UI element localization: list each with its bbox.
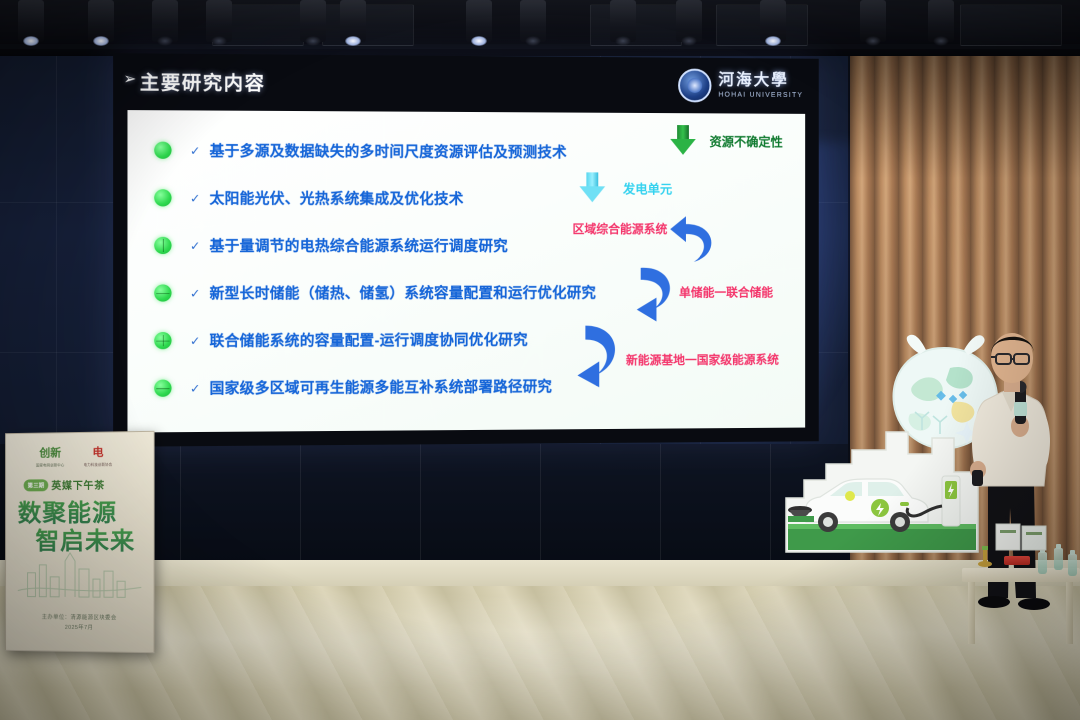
list-item: ✓ 新型长时储能（储热、储氢）系统容量配置和运行优化研究: [154, 269, 587, 317]
banner-series-label: 第三期 英媒下午茶: [24, 477, 105, 493]
bullet-text: 联合储能系统的容量配置-运行调度协同优化研究: [209, 329, 527, 351]
org-logo-2-sub: 电力科技创新协会: [81, 463, 115, 468]
banner-footer-organizer: 主办单位：清源能源区块委会: [6, 612, 153, 622]
ceiling-box: [590, 4, 682, 46]
bullet-list: ✓ 基于多源及数据缺失的多时间尺度资源评估及预测技术 ✓ 太阳能光伏、光热系统集…: [154, 126, 587, 412]
check-icon: ✓: [190, 143, 200, 157]
ceiling-truss: [0, 0, 1080, 56]
list-item: ✓ 基于量调节的电热综合能源系统运行调度研究: [154, 222, 587, 270]
banner-org-logos: 创新 国家电网创新中心 电 电力科技创新协会: [33, 445, 115, 468]
org-logo-1: 创新 国家电网创新中心: [33, 446, 67, 468]
list-item: ✓ 国家级多区域可再生能源多能互补系统部署路径研究: [154, 362, 587, 412]
bullet-dot-icon: [154, 189, 171, 206]
stage-light-icon: [928, 0, 954, 42]
banner-badge: 第三期: [24, 479, 49, 491]
annotation-new-energy-base-to-national-system: 新能源基地一国家级能源系统: [626, 351, 779, 369]
bullet-text: 太阳能光伏、光热系统集成及优化技术: [209, 187, 463, 209]
red-box: [1004, 556, 1030, 565]
stage-light-icon: [152, 0, 178, 42]
list-item: ✓ 联合储能系统的容量配置-运行调度协同优化研究: [154, 316, 587, 365]
check-icon: ✓: [190, 191, 200, 205]
carpet-floor: [0, 586, 1080, 720]
bullet-dot-icon: [154, 237, 171, 254]
stage-light-icon: [760, 0, 786, 42]
slide-title: 主要研究内容: [140, 68, 266, 96]
org-logo-2-mark: 电: [81, 445, 115, 460]
side-table: [962, 552, 1080, 650]
presentation-clicker: [972, 470, 983, 486]
stage-light-icon: [300, 0, 326, 42]
stage-light-icon: [466, 0, 492, 42]
check-icon: ✓: [190, 333, 200, 347]
table-leg: [1066, 582, 1073, 644]
banner-series-title: 英媒下午茶: [51, 477, 105, 492]
bullet-dot-icon: [154, 380, 171, 397]
bullet-text: 基于量调节的电热综合能源系统运行调度研究: [209, 235, 508, 256]
org-logo-1-sub: 国家电网创新中心: [33, 463, 67, 468]
check-icon: ✓: [190, 381, 200, 395]
bullet-text: 新型长时储能（储热、储氢）系统容量配置和运行优化研究: [209, 282, 596, 304]
presenter-arm-right: [1034, 408, 1050, 469]
list-item: ✓ 基于多源及数据缺失的多时间尺度资源评估及预测技术: [154, 126, 587, 175]
banner-footer-date: 2025年7月: [6, 622, 153, 632]
university-logo: 河海大學 HOHAI UNIVERSITY: [678, 66, 803, 106]
org-logo-2: 电 电力科技创新协会: [81, 445, 115, 467]
stage-light-icon: [340, 0, 366, 42]
annotation-regional-energy-system: 区域综合能源系统: [573, 220, 668, 237]
stage-light-icon: [88, 0, 114, 42]
water-bottle: [1054, 548, 1063, 570]
slide-header: ➢ 主要研究内容 河海大學 HOHAI UNIVERSITY: [113, 53, 819, 114]
org-logo-1-mark: 创新: [33, 446, 67, 461]
water-bottle: [1038, 552, 1047, 574]
university-seal-icon: [678, 69, 711, 103]
bullet-dot-icon: [154, 284, 171, 301]
skyline-graphic: [18, 547, 142, 600]
bullet-dot-icon: [154, 142, 171, 159]
check-icon: ✓: [190, 286, 200, 300]
ceiling-box: [960, 4, 1062, 46]
down-arrow-cyan-icon: [579, 172, 605, 202]
stage-light-icon: [610, 0, 636, 42]
stage-light-icon: [860, 0, 886, 42]
table-leg: [968, 582, 975, 644]
green-lawn: [788, 528, 976, 550]
ceiling-box: [322, 4, 414, 46]
slide-body: ✓ 基于多源及数据缺失的多时间尺度资源评估及预测技术 ✓ 太阳能光伏、光热系统集…: [127, 110, 805, 432]
projection-screen: ➢ 主要研究内容 河海大學 HOHAI UNIVERSITY ✓ 基于多源及数据…: [113, 53, 819, 447]
check-icon: ✓: [190, 238, 200, 252]
name-card: [994, 522, 1050, 554]
presentation-photo-scene: ➢ 主要研究内容 河海大學 HOHAI UNIVERSITY ✓ 基于多源及数据…: [0, 0, 1080, 720]
stage-light-icon: [206, 0, 232, 42]
bullet-text: 基于多源及数据缺失的多时间尺度资源评估及预测技术: [209, 140, 566, 163]
stage-light-icon: [18, 0, 44, 42]
logo-english-name: HOHAI UNIVERSITY: [718, 92, 803, 99]
slide: ➢ 主要研究内容 河海大學 HOHAI UNIVERSITY ✓ 基于多源及数据…: [113, 53, 819, 447]
annotation-resource-uncertainty: 资源不确定性: [709, 131, 782, 150]
bullet-text: 国家级多区域可再生能源多能互补系统部署路径研究: [209, 376, 552, 399]
logo-chinese-name: 河海大學: [718, 73, 803, 89]
water-bottle: [1068, 554, 1077, 576]
down-arrow-green-icon: [670, 125, 696, 155]
bullet-dot-icon: [154, 332, 171, 349]
event-banner-standee: 创新 国家电网创新中心 电 电力科技创新协会 第三期 英媒下午茶 数聚能源 智启…: [5, 431, 154, 653]
curved-arrow-blue-icon: [566, 318, 631, 390]
chevron-right-icon: ➢: [123, 72, 136, 87]
annotation-single-to-joint-storage: 单储能一联合储能: [679, 284, 773, 301]
stage-light-icon: [676, 0, 702, 42]
candle-holder: [976, 546, 994, 572]
stage-light-icon: [520, 0, 546, 42]
list-item: ✓ 太阳能光伏、光热系统集成及优化技术: [154, 174, 587, 222]
annotation-generation-unit: 发电单元: [623, 178, 672, 197]
